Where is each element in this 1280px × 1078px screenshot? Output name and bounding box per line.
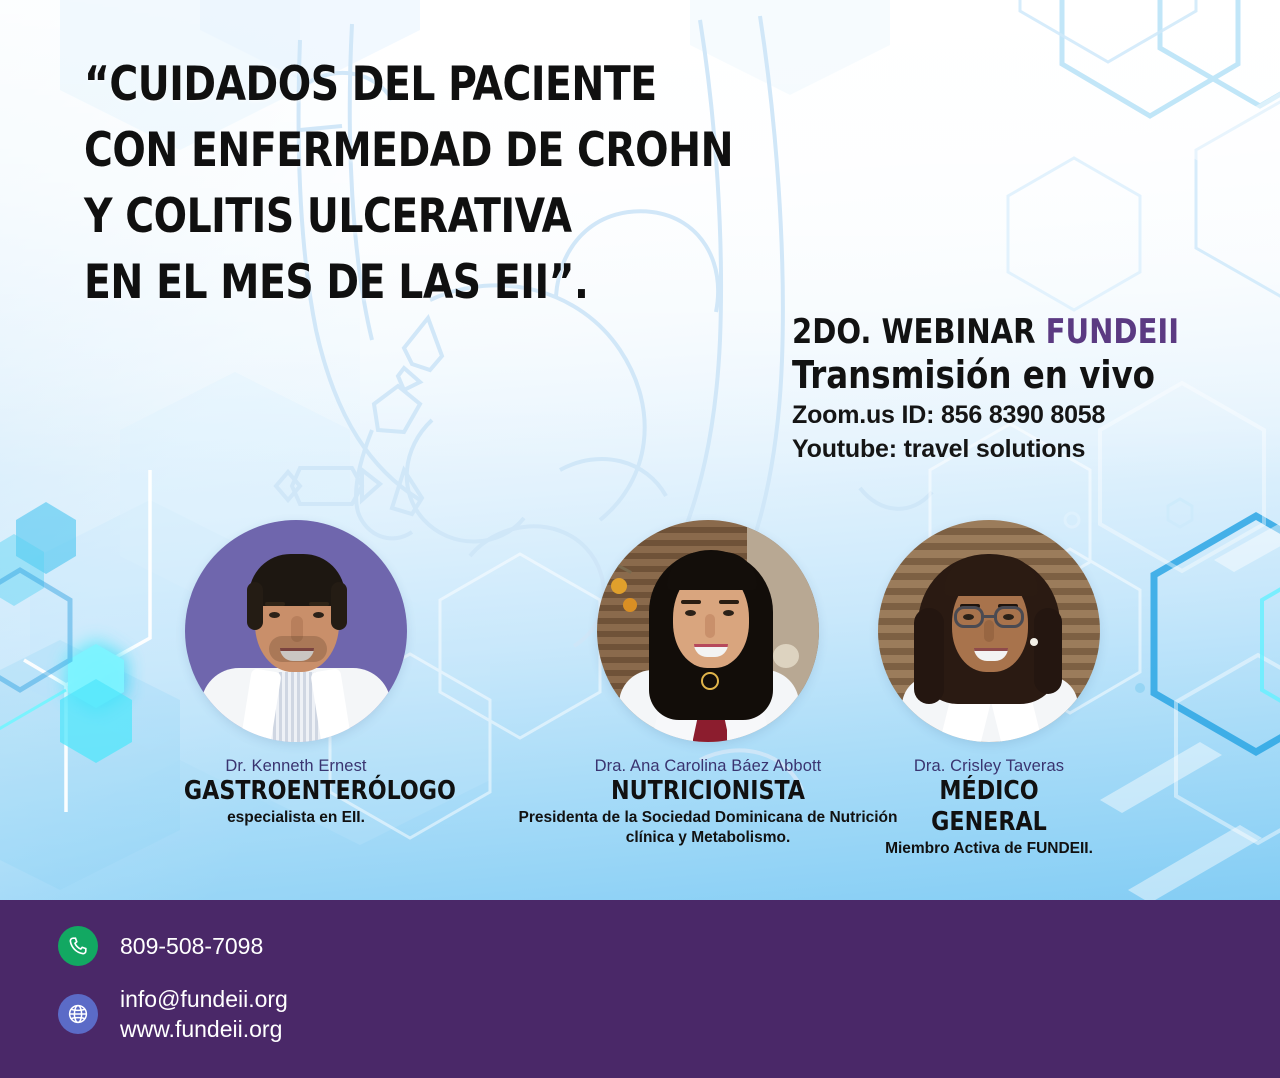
webinar-title-prefix: 2DO. WEBINAR: [792, 312, 1046, 352]
speaker-role: GASTROENTERÓLOGO: [184, 776, 408, 807]
speakers-row: Dr. Kenneth Ernest GASTROENTERÓLOGO espe…: [0, 520, 1280, 865]
web-contact-lines: info@fundeii.org www.fundeii.org: [98, 984, 288, 1044]
webinar-info-block: 2DO. WEBINAR FUNDEII Transmisión en vivo…: [792, 312, 1212, 466]
webinar-youtube-channel: Youtube: travel solutions: [792, 432, 1212, 466]
webinar-title-line: 2DO. WEBINAR FUNDEII: [792, 312, 1191, 352]
phone-icon: [58, 926, 98, 966]
speaker-description: Presidenta de la Sociedad Dominicana de …: [518, 808, 898, 848]
headline-line-1: “CUIDADOS DEL PACIENTE: [84, 52, 735, 118]
webinar-zoom-id: Zoom.us ID: 856 8390 8058: [792, 398, 1212, 432]
contact-info: 809-508-7098 info@fundeii.org www.fundei…: [58, 926, 288, 1044]
poster-canvas: “CUIDADOS DEL PACIENTE CON ENFERMEDAD DE…: [0, 0, 1280, 1078]
contact-row-web[interactable]: info@fundeii.org www.fundeii.org: [58, 984, 288, 1044]
website-url: www.fundeii.org: [120, 1014, 288, 1044]
email-address: info@fundeii.org: [120, 984, 288, 1014]
phone-number: 809-508-7098: [120, 931, 263, 961]
avatar: [878, 520, 1100, 742]
speaker-name: Dr. Kenneth Ernest: [178, 757, 414, 776]
headline-line-2: CON ENFERMEDAD DE CROHN: [84, 118, 735, 184]
speaker-card-1: Dra. Ana Carolina Báez Abbott NUTRICIONI…: [528, 520, 888, 848]
speaker-role: MÉDICO GENERAL: [884, 776, 1095, 838]
speaker-photo-wood-wall: [878, 520, 1100, 742]
contact-row-phone[interactable]: 809-508-7098: [58, 926, 288, 966]
speaker-card-2: Dra. Crisley Taveras MÉDICO GENERAL Miem…: [878, 520, 1100, 859]
speaker-name: Dra. Crisley Taveras: [878, 757, 1100, 776]
speaker-photo-indoor-blinds: [597, 520, 819, 742]
speaker-description: Miembro Activa de FUNDEII.: [878, 839, 1100, 859]
avatar: [597, 520, 819, 742]
speaker-card-0: Dr. Kenneth Ernest GASTROENTERÓLOGO espe…: [178, 520, 414, 828]
page-title: “CUIDADOS DEL PACIENTE CON ENFERMEDAD DE…: [84, 52, 735, 316]
speaker-photo-purple-backdrop: [185, 520, 407, 742]
speaker-description: especialista en EII.: [178, 808, 414, 828]
headline-line-3: Y COLITIS ULCERATIVA: [84, 184, 735, 250]
speaker-role: NUTRICIONISTA: [537, 776, 879, 807]
footer-bar: 809-508-7098 info@fundeii.org www.fundei…: [0, 900, 1280, 1078]
globe-icon: [58, 994, 98, 1034]
speaker-name: Dra. Ana Carolina Báez Abbott: [528, 757, 888, 776]
webinar-subtitle: Transmisión en vivo: [792, 352, 1191, 398]
headline-line-4: EN EL MES DE LAS EII”.: [84, 250, 735, 316]
webinar-brand-accent: FUNDEII: [1046, 312, 1179, 352]
avatar: [185, 520, 407, 742]
